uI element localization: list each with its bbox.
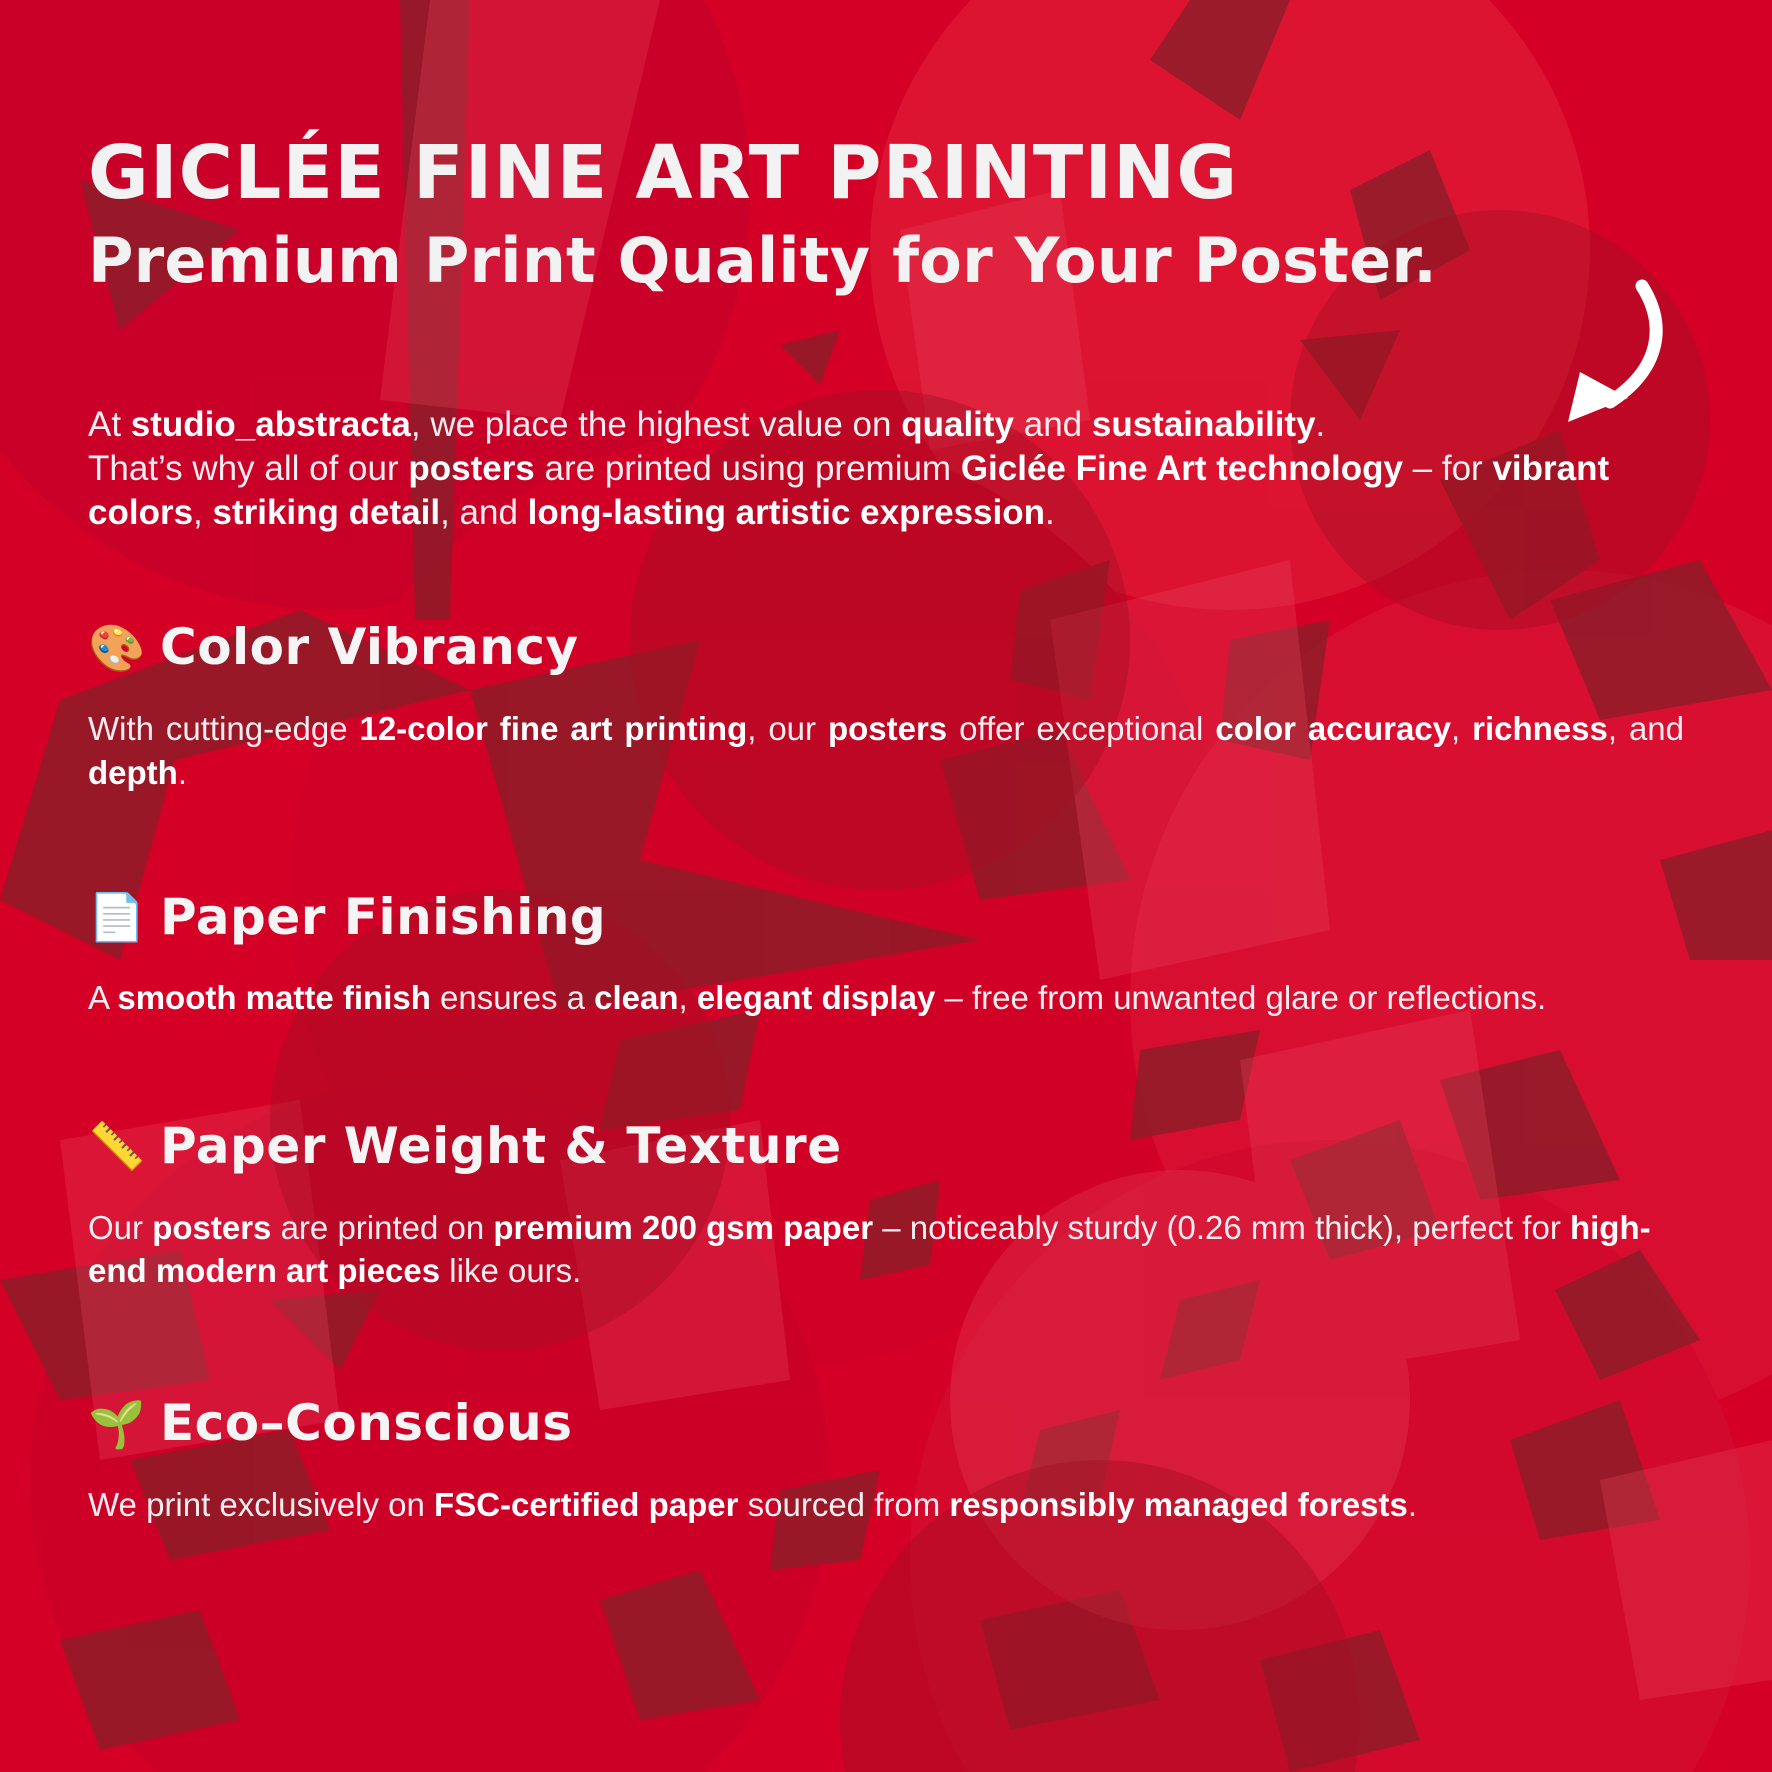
section-body: A smooth matte finish ensures a clean, e… [88,976,1684,1020]
seedling-icon: 🌱 [88,1401,138,1447]
body-text: , our [747,710,828,747]
intro-paragraph: At studio_abstracta, we place the highes… [88,403,1684,535]
hero-section: GICLÉE FINE ART PRINTING Premium Print Q… [88,0,1684,293]
body-text: We print exclusively on [88,1486,434,1523]
body-text: – free from unwanted glare or reflection… [935,979,1546,1016]
page-subtitle: Premium Print Quality for Your Poster. [88,228,1684,293]
section-paper-weight-texture: 📏 Paper Weight & Texture Our posters are… [88,1120,1684,1293]
section-body: We print exclusively on FSC-certified pa… [88,1483,1684,1527]
ruler-icon: 📏 [88,1123,138,1169]
section-heading: 🎨 Color Vibrancy [88,621,1684,674]
intro-text: . [1316,405,1326,444]
section-heading: 📏 Paper Weight & Texture [88,1120,1684,1173]
section-body: Our posters are printed on premium 200 g… [88,1206,1684,1294]
body-text: , [679,979,697,1016]
body-bold: clean [594,979,678,1016]
intro-text: At [88,405,131,444]
body-text: With cutting-edge [88,710,359,747]
section-title: Color Vibrancy [160,621,579,674]
intro-text: are printed using premium [535,449,961,488]
body-text: A [88,979,117,1016]
intro-bold-longlasting: long-lasting artistic expression [528,493,1045,532]
section-eco-conscious: 🌱 Eco–Conscious We print exclusively on … [88,1397,1684,1526]
page-title: GICLÉE FINE ART PRINTING [88,136,1684,210]
body-text: Our [88,1209,152,1246]
body-text: . [1408,1486,1417,1523]
section-title: Paper Finishing [160,891,606,944]
poster-page: GICLÉE FINE ART PRINTING Premium Print Q… [0,0,1772,1772]
body-bold: 12-color fine art printing [359,710,747,747]
section-heading: 📄 Paper Finishing [88,891,1684,944]
intro-text: , we place the highest value on [411,405,901,444]
intro-bold-sustainability: sustainability [1092,405,1316,444]
body-text: offer exceptional [947,710,1215,747]
brand-name: studio_abstracta [131,405,411,444]
body-bold: elegant display [697,979,935,1016]
document-icon: 📄 [88,894,138,940]
body-text: , [1451,710,1472,747]
body-text: ensures a [431,979,594,1016]
body-bold: premium 200 gsm paper [493,1209,873,1246]
body-text: sourced from [738,1486,949,1523]
body-bold: color accuracy [1215,710,1451,747]
section-paper-finishing: 📄 Paper Finishing A smooth matte finish … [88,891,1684,1020]
section-title: Eco–Conscious [160,1397,573,1450]
intro-text: – for [1403,449,1492,488]
section-body: With cutting-edge 12-color fine art prin… [88,707,1684,795]
section-color-vibrancy: 🎨 Color Vibrancy With cutting-edge 12-co… [88,621,1684,794]
intro-bold-striking: striking detail [213,493,441,532]
body-text: are printed on [271,1209,493,1246]
body-text: like ours. [440,1252,581,1289]
body-text: – noticeably sturdy (0.26 mm thick), per… [873,1209,1570,1246]
intro-bold-giclee: Giclée Fine Art technology [961,449,1403,488]
curved-arrow-down-left-icon [1524,272,1704,432]
section-heading: 🌱 Eco–Conscious [88,1397,1684,1450]
palette-icon: 🎨 [88,625,138,671]
body-bold: smooth matte finish [117,979,431,1016]
intro-text: , [193,493,212,532]
body-bold: FSC-certified paper [434,1486,738,1523]
body-bold: depth [88,754,178,791]
body-bold: posters [828,710,947,747]
body-text: . [178,754,187,791]
intro-text: . [1045,493,1055,532]
intro-bold-posters: posters [408,449,534,488]
intro-text: and [1014,405,1092,444]
body-bold: responsibly managed forests [949,1486,1407,1523]
body-text: , and [1608,710,1684,747]
intro-bold-quality: quality [901,405,1014,444]
body-bold: posters [152,1209,271,1246]
section-title: Paper Weight & Texture [160,1120,842,1173]
intro-text: , and [440,493,528,532]
body-bold: richness [1472,710,1608,747]
intro-text: That’s why all of our [88,449,408,488]
